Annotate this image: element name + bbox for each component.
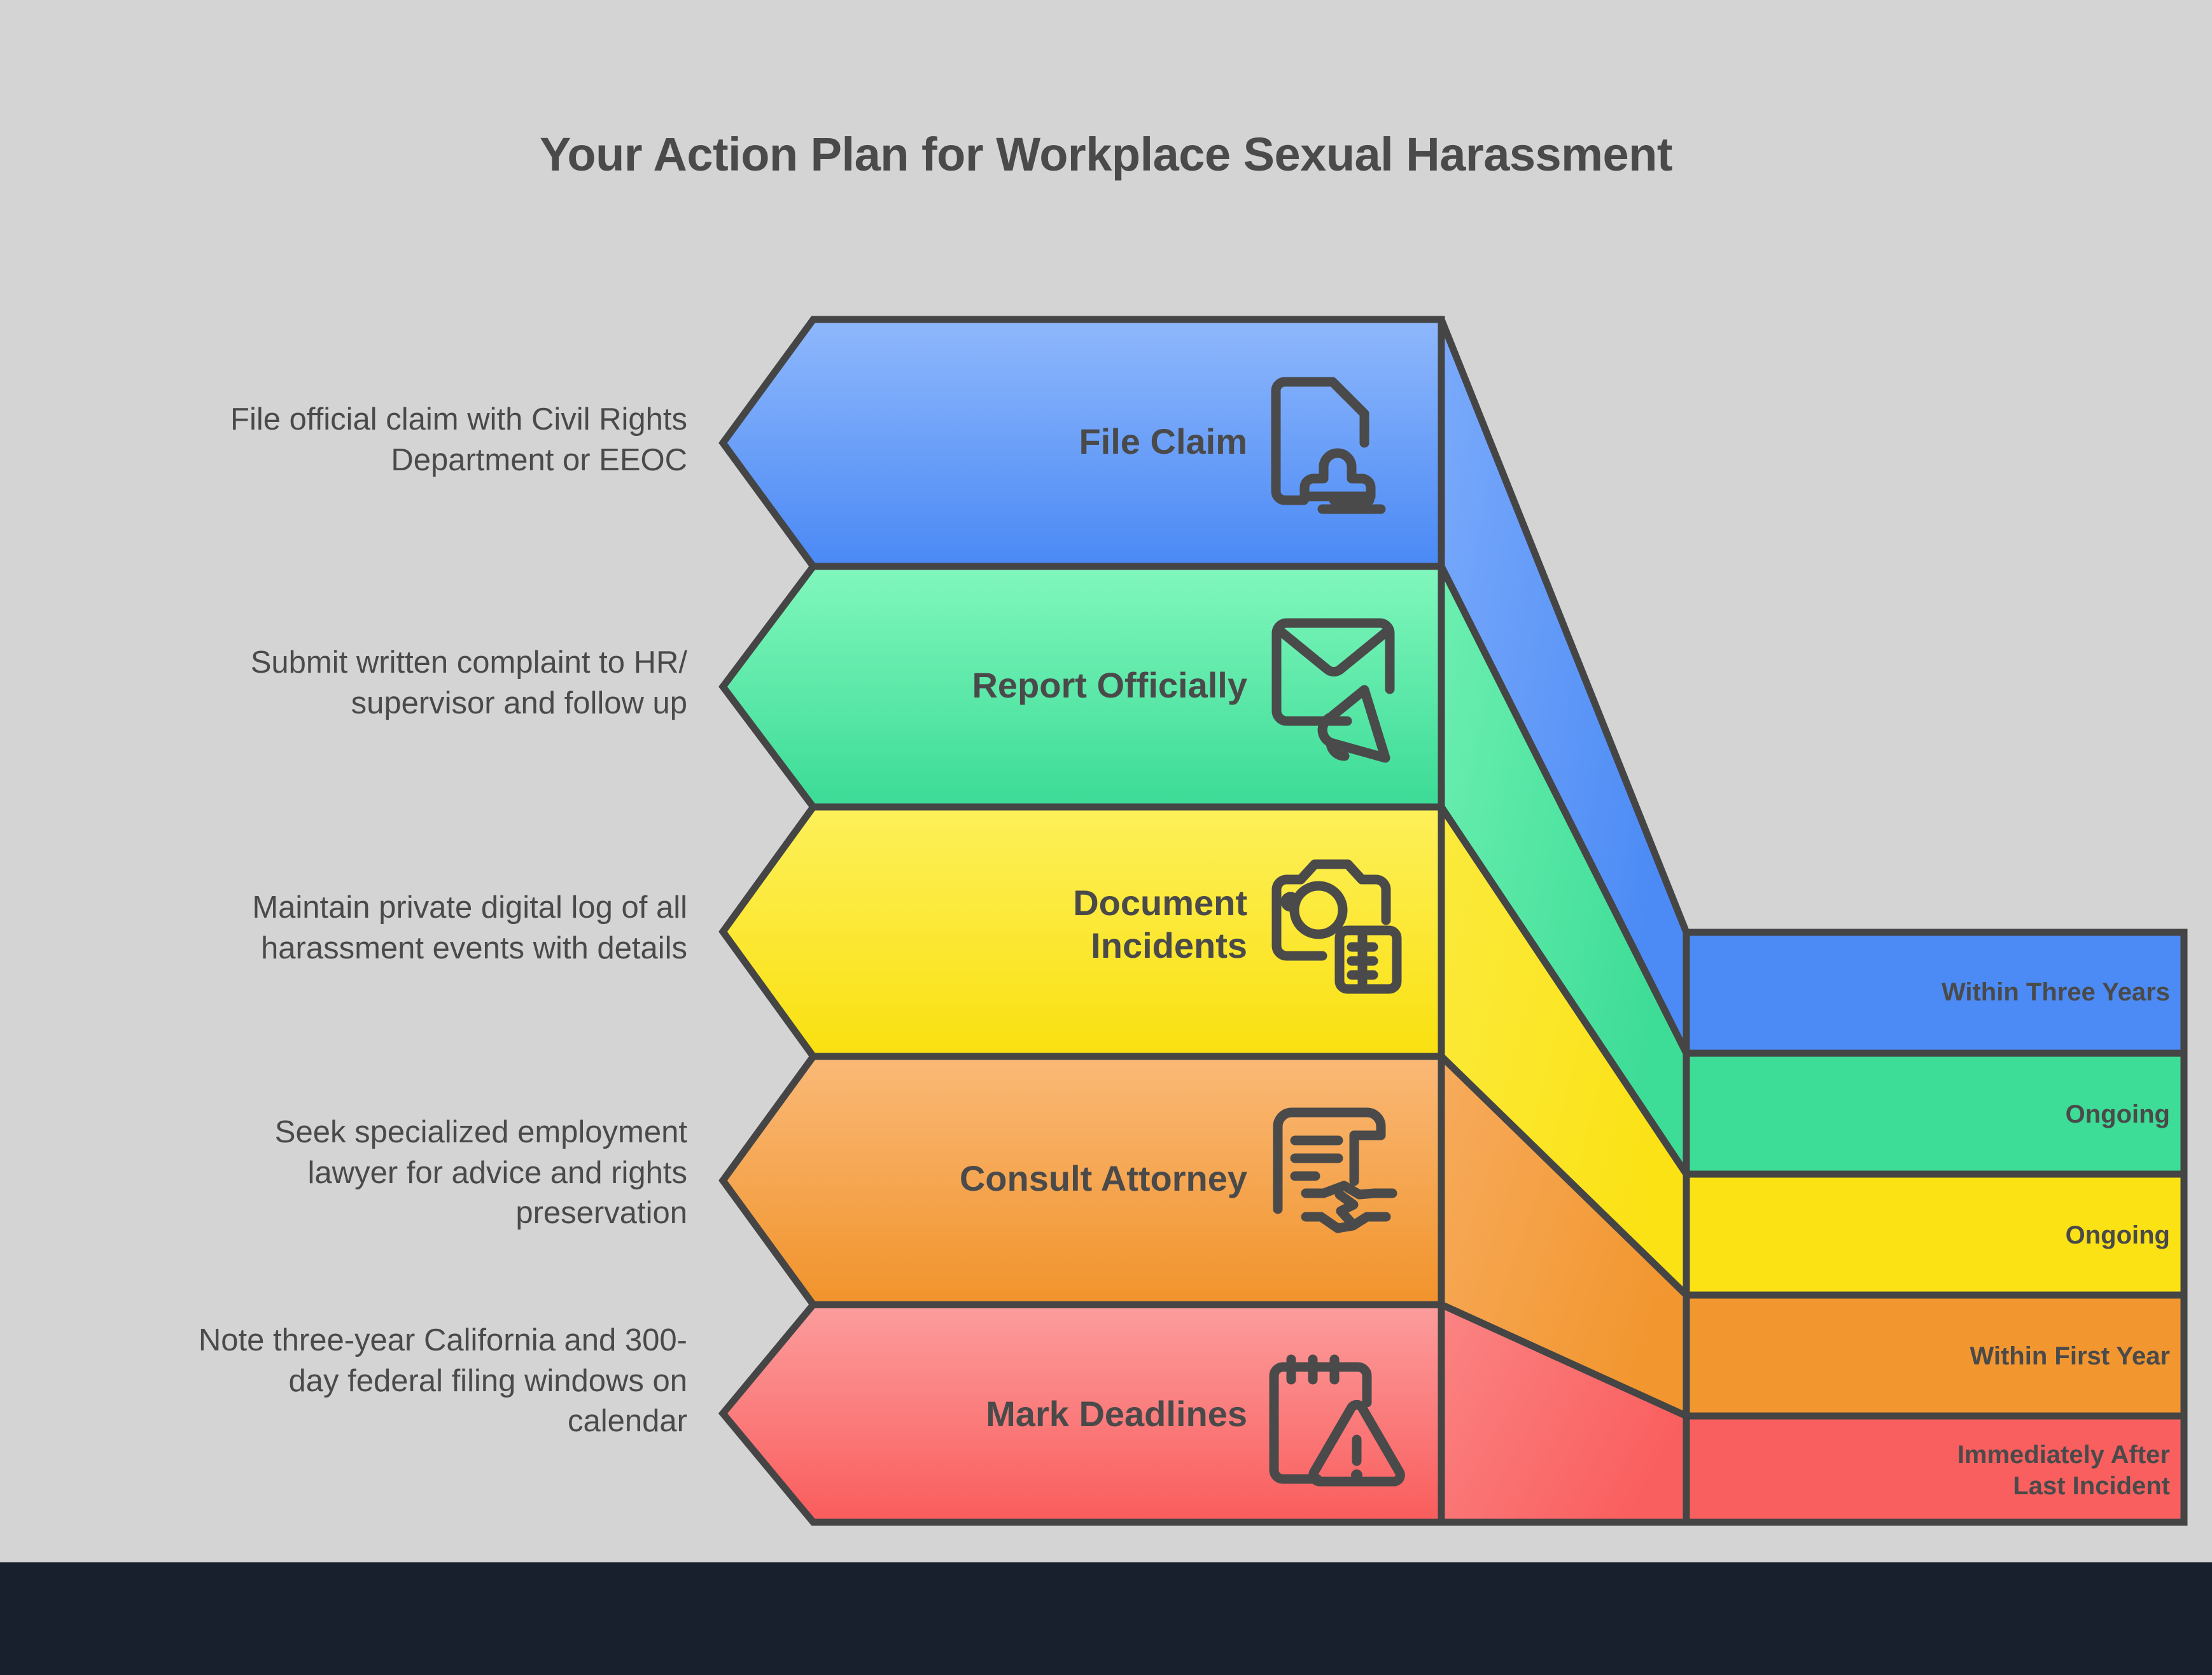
step-label-mark-deadlines: Mark Deadlines [675,1392,1247,1435]
timing-label-file-claim: Within Three Years [1699,977,2170,1008]
timing-label-line: Immediately After [1699,1440,2170,1471]
description-file-claim: File official claim with Civil Rights De… [51,400,687,480]
description-line: Department or EEOC [51,440,687,481]
step-label-consult-attorney: Consult Attorney [675,1157,1247,1200]
infographic-stage: Your Action Plan for Workplace Sexual Ha… [0,0,2212,1675]
timing-label-line: Ongoing [1699,1099,2170,1130]
timing-label-document-incidents: Ongoing [1699,1220,2170,1251]
description-consult-attorney: Seek specialized employment lawyer for a… [51,1112,687,1234]
description-report-officially: Submit written complaint to HR/ supervis… [51,643,687,724]
description-line: supervisor and follow up [51,683,687,724]
step-label-document-incidents: Document Incidents [675,881,1247,967]
step-label-line: Mark Deadlines [675,1392,1247,1435]
page-title: Your Action Plan for Workplace Sexual Ha… [0,127,2212,181]
description-line: Maintain private digital log of all [51,888,687,929]
description-document-incidents: Maintain private digital log of all hara… [51,888,687,969]
timing-label-mark-deadlines: Immediately After Last Incident [1699,1440,2170,1502]
step-label-line: File Claim [675,420,1247,463]
description-line: Submit written complaint to HR/ [51,643,687,683]
description-line: Note three-year California and 300- [51,1321,687,1361]
step-label-line: Consult Attorney [675,1157,1247,1200]
description-line: preservation [51,1193,687,1234]
description-line: harassment events with details [51,929,687,969]
description-line: Seek specialized employment [51,1112,687,1153]
timing-label-line: Last Incident [1699,1471,2170,1502]
description-line: lawyer for advice and rights [51,1153,687,1194]
footer-bar [0,1562,2212,1675]
description-line: calendar [51,1401,687,1442]
description-line: File official claim with Civil Rights [51,400,687,440]
timing-label-report-officially: Ongoing [1699,1099,2170,1130]
step-label-line: Document [675,881,1247,924]
timing-label-line: Within First Year [1699,1341,2170,1372]
step-label-file-claim: File Claim [675,420,1247,463]
step-label-report-officially: Report Officially [675,664,1247,706]
step-label-line: Report Officially [675,664,1247,706]
description-mark-deadlines: Note three-year California and 300- day … [51,1321,687,1442]
timing-label-consult-attorney: Within First Year [1699,1341,2170,1372]
step-label-line: Incidents [675,924,1247,967]
timing-label-line: Ongoing [1699,1220,2170,1251]
timing-label-line: Within Three Years [1699,977,2170,1008]
description-line: day federal filing windows on [51,1361,687,1402]
